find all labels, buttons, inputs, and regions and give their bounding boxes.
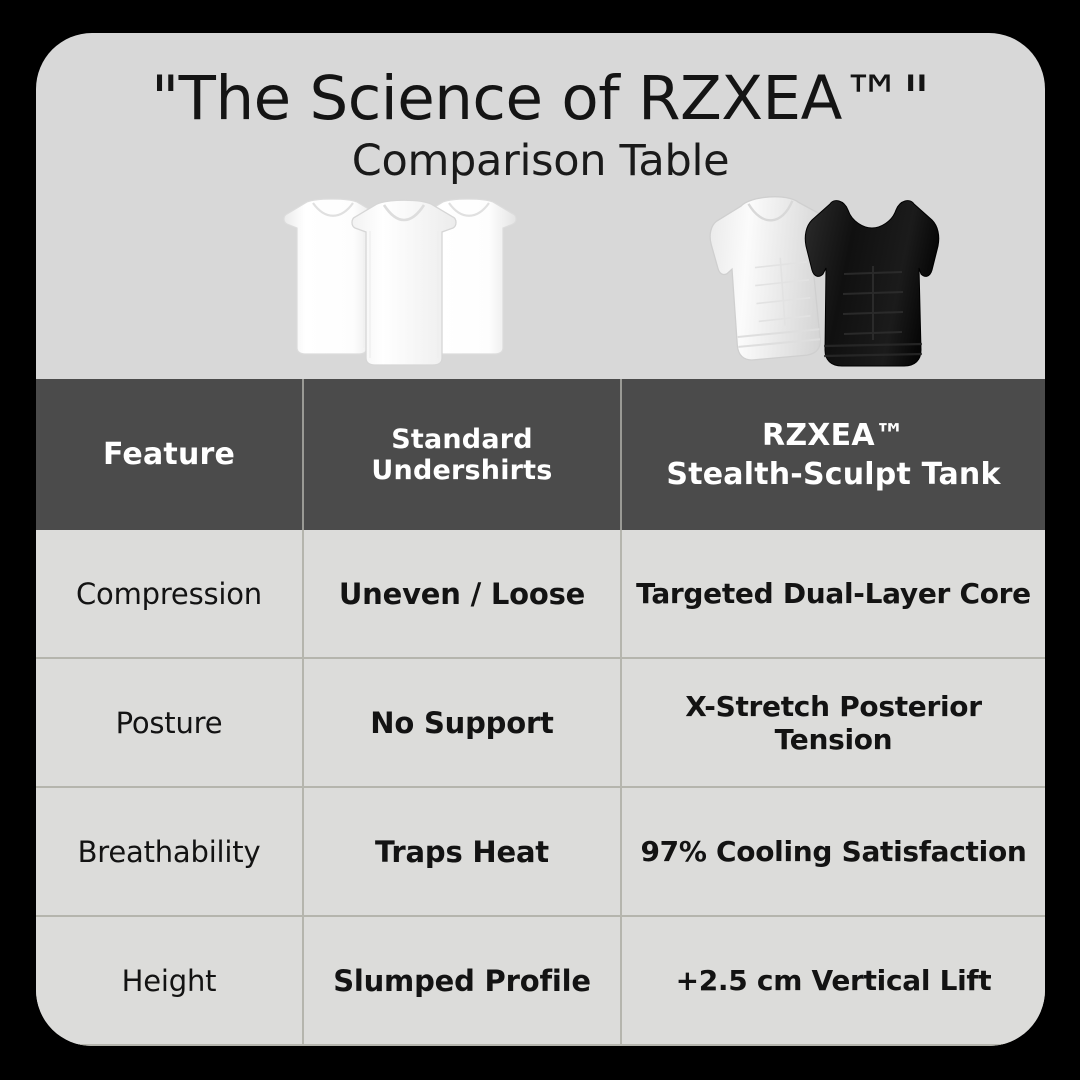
column-header-standard: Standard Undershirts: [303, 379, 621, 530]
table-row: Compression Uneven / Loose Targeted Dual…: [36, 530, 1045, 658]
product-image-strip: [36, 188, 1045, 379]
table-row: Height Slumped Profile +2.5 cm Vertical …: [36, 916, 1045, 1045]
page-title: "The Science of RZXEA™": [36, 33, 1045, 133]
three-white-tank-tops-icon: [267, 188, 573, 379]
column-header-feature: Feature: [36, 379, 303, 530]
cell-rzxea: +2.5 cm Vertical Lift: [621, 916, 1045, 1045]
cell-feature: Posture: [36, 658, 303, 787]
cell-rzxea: 97% Cooling Satisfaction: [621, 787, 1045, 916]
white-and-black-compression-tank-icon: [704, 188, 954, 379]
cell-standard: Uneven / Loose: [303, 530, 621, 658]
cell-standard: Slumped Profile: [303, 916, 621, 1045]
cell-rzxea: Targeted Dual-Layer Core: [621, 530, 1045, 658]
page-subtitle: Comparison Table: [36, 133, 1045, 186]
title-block: "The Science of RZXEA™" Comparison Table: [36, 33, 1045, 187]
cell-rzxea: X-Stretch Posterior Tension: [621, 658, 1045, 787]
table-row: Posture No Support X-Stretch Posterior T…: [36, 658, 1045, 787]
comparison-table: Feature Standard Undershirts RZXEA™Steal…: [36, 379, 1045, 1046]
column-header-rzxea-line1: RZXEA™: [762, 418, 905, 453]
column-header-rzxea: RZXEA™Stealth-Sculpt Tank: [621, 379, 1045, 530]
cell-standard: Traps Heat: [303, 787, 621, 916]
table-row: Breathability Traps Heat 97% Cooling Sat…: [36, 787, 1045, 916]
infographic-card: "The Science of RZXEA™" Comparison Table: [36, 33, 1045, 1046]
cell-feature: Compression: [36, 530, 303, 658]
column-header-rzxea-line2: Stealth-Sculpt Tank: [634, 455, 1033, 494]
cell-feature: Breathability: [36, 787, 303, 916]
table-header-row: Feature Standard Undershirts RZXEA™Steal…: [36, 379, 1045, 530]
cell-feature: Height: [36, 916, 303, 1045]
cell-standard: No Support: [303, 658, 621, 787]
